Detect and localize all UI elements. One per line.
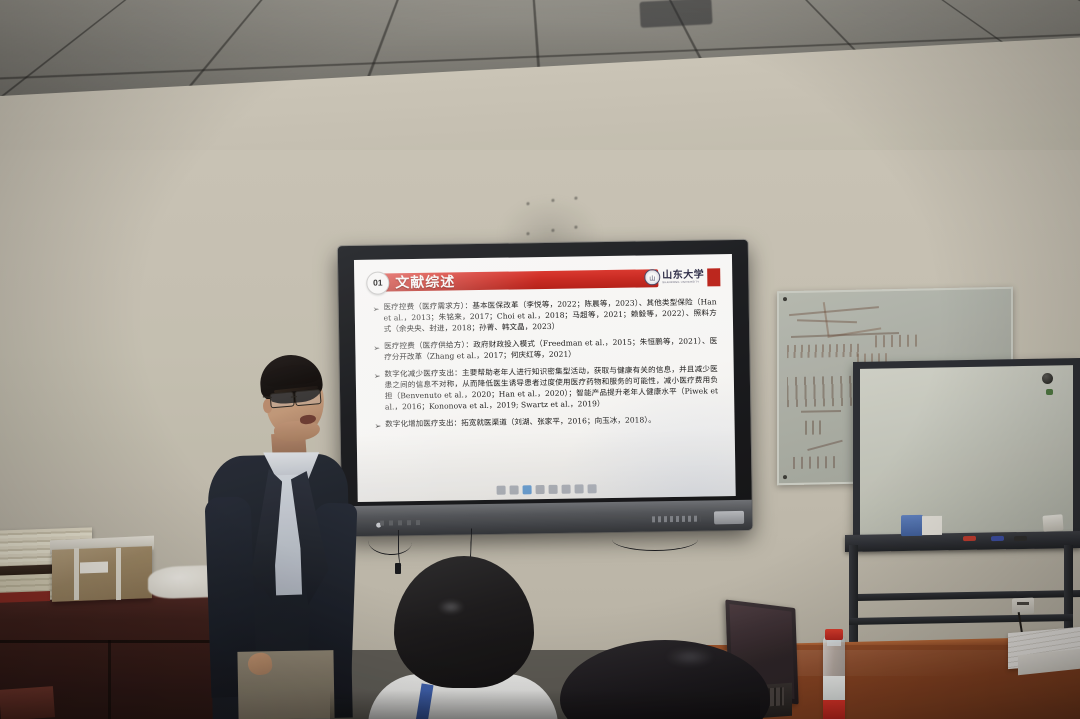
whiteboard-note-card (922, 516, 942, 535)
ir-sensor-strip (380, 520, 422, 526)
classroom-photo: 01 文献综述 山 山东大学 SHANDONG UNIVERSITY (0, 0, 1080, 719)
whiteboard-clip[interactable] (901, 515, 923, 536)
foreground-shadow (330, 690, 760, 719)
presenter-chin (273, 419, 320, 442)
marker-red-icon[interactable] (963, 536, 976, 541)
whiteboard-corner-screw (783, 297, 787, 301)
box-shipping-label (80, 562, 108, 574)
presenter (214, 355, 354, 719)
slide-section-number: 01 (366, 271, 389, 294)
university-name-en: SHANDONG UNIVERSITY (662, 280, 704, 284)
marker-black-icon[interactable] (1014, 536, 1027, 541)
bottle-label-red (823, 700, 845, 719)
audience-head (394, 556, 534, 688)
chair-back (0, 686, 55, 719)
whiteboard-handwriting (787, 344, 859, 358)
cabinet-seam (108, 640, 111, 719)
whiteboard-handwriting (793, 456, 835, 469)
red-folder (0, 591, 50, 603)
hair-highlight (438, 600, 464, 614)
whiteboard-handwriting (805, 420, 825, 434)
smart-display[interactable]: 01 文献综述 山 山东大学 SHANDONG UNIVERSITY (338, 240, 753, 536)
university-name: 山东大学 (662, 270, 704, 281)
whiteboard-diagram (823, 294, 881, 338)
whiteboard-indicator-icon (1046, 389, 1053, 395)
cabinet-seam (0, 640, 232, 643)
whiteboard-handwriting (875, 335, 921, 348)
display-brand-mark (652, 516, 700, 523)
display-screen[interactable]: 01 文献综述 山 山东大学 SHANDONG UNIVERSITY (354, 254, 736, 502)
whiteboard-stroke (801, 410, 841, 413)
display-badge (714, 511, 744, 524)
whiteboard-stroke (807, 440, 842, 451)
outlet-slot-icon (1017, 602, 1029, 605)
glasses-lens (294, 389, 321, 406)
whiteboard-eraser[interactable] (1042, 514, 1063, 532)
whiteboard-camera-icon (1042, 373, 1053, 384)
cardboard-box (52, 546, 152, 602)
whiteboard-corner-screw (783, 475, 787, 479)
box-strap (116, 548, 121, 600)
slide-title: 文献综述 (395, 271, 455, 292)
power-outlet[interactable] (1012, 598, 1034, 615)
bottle-cap (825, 629, 843, 640)
marker-blue-icon[interactable] (991, 536, 1004, 541)
box-strap (74, 548, 79, 600)
glasses-lens (269, 391, 294, 408)
university-emblem-icon: 山 (644, 269, 660, 285)
bottle-label (823, 676, 845, 700)
emblem-glyph: 山 (649, 273, 655, 282)
university-logo: 山 山东大学 SHANDONG UNIVERSITY (644, 268, 704, 285)
display-cable (612, 528, 698, 551)
hair-highlight (666, 648, 714, 666)
